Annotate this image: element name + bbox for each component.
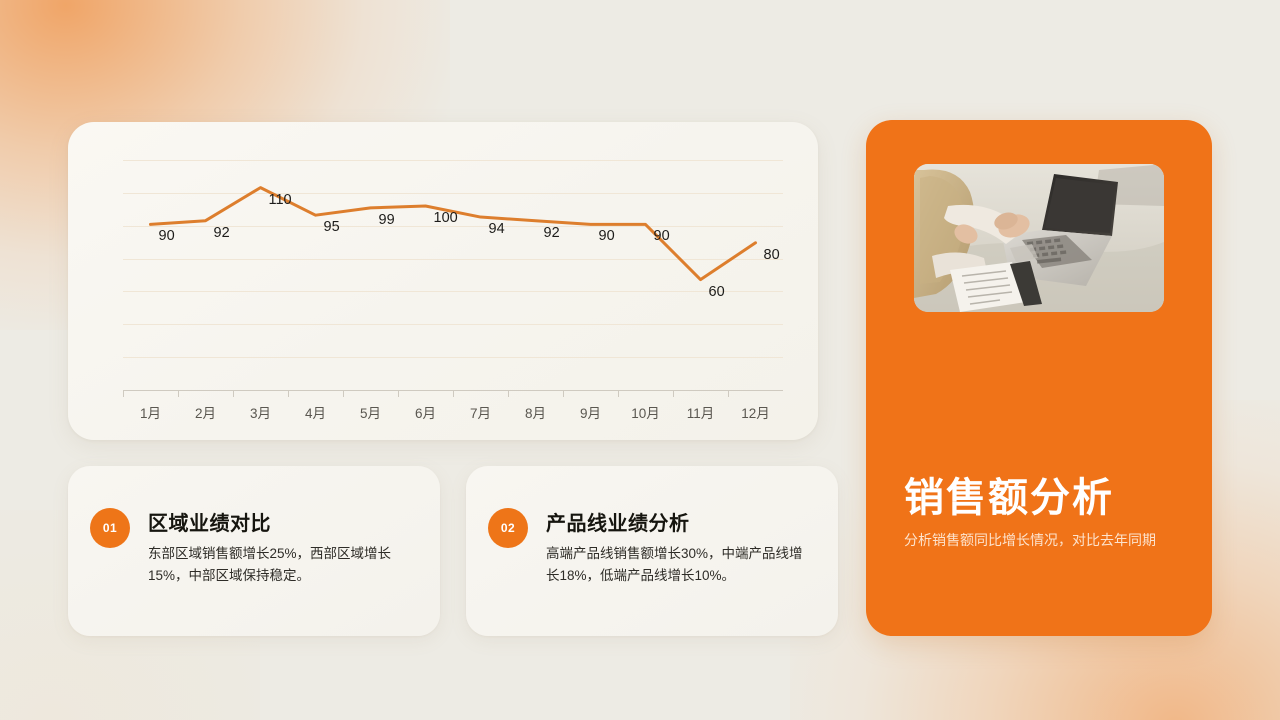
x-axis-label-3: 3月 <box>250 402 271 422</box>
info-card-2[interactable]: 02 产品线业绩分析 高端产品线销售额增长30%，中端产品线增长18%，低端产品… <box>466 466 838 636</box>
chart-x-axis-ticks <box>123 390 783 397</box>
x-axis-label-11: 11月 <box>687 402 715 422</box>
chart-data-label: 92 <box>544 225 560 241</box>
x-axis-tick <box>673 390 674 397</box>
chart-data-label: 95 <box>324 219 340 235</box>
card-description-1: 东部区域销售额增长25%，西部区域增长15%，中部区域保持稳定。 <box>148 543 416 587</box>
x-axis-tick <box>123 390 124 397</box>
chart-line-path <box>123 160 783 390</box>
chart-x-axis-labels: 1月2月3月4月5月6月7月8月9月10月11月12月 <box>123 402 783 428</box>
x-axis-label-12: 12月 <box>741 402 770 422</box>
chart-data-label: 90 <box>654 228 670 244</box>
chart-data-label: 92 <box>214 225 230 241</box>
chart-data-label: 110 <box>269 192 292 208</box>
chart-card: 90921109599100949290906080 1月2月3月4月5月6月7… <box>68 122 818 440</box>
x-axis-tick <box>398 390 399 397</box>
x-axis-label-5: 5月 <box>360 402 381 422</box>
page-subtitle: 分析销售额同比增长情况，对比去年同期 <box>904 530 1166 551</box>
laptop-woman-photo <box>914 164 1164 312</box>
x-axis-tick <box>343 390 344 397</box>
x-axis-label-2: 2月 <box>195 402 216 422</box>
sidebar-orange-panel: 销售额分析 分析销售额同比增长情况，对比去年同期 <box>866 120 1212 636</box>
chart-data-label: 90 <box>599 228 615 244</box>
x-axis-tick <box>618 390 619 397</box>
x-axis-tick <box>563 390 564 397</box>
chart-data-label: 99 <box>379 212 395 228</box>
line-chart-plot-area: 90921109599100949290906080 <box>123 160 783 390</box>
chart-data-label: 60 <box>709 284 725 300</box>
page-title: 销售额分析 <box>904 465 1114 523</box>
x-axis-tick <box>728 390 729 397</box>
x-axis-label-1: 1月 <box>140 402 161 422</box>
x-axis-label-8: 8月 <box>525 402 546 422</box>
x-axis-tick <box>178 390 179 397</box>
card-description-2: 高端产品线销售额增长30%，中端产品线增长18%，低端产品线增长10%。 <box>546 543 814 587</box>
card-title-1: 区域业绩对比 <box>148 507 271 536</box>
chart-data-label: 100 <box>434 210 458 226</box>
x-axis-tick <box>288 390 289 397</box>
x-axis-label-4: 4月 <box>305 402 326 422</box>
chart-data-label: 90 <box>159 228 175 244</box>
x-axis-label-10: 10月 <box>631 402 660 422</box>
chart-data-label: 80 <box>764 247 780 263</box>
info-card-1[interactable]: 01 区域业绩对比 东部区域销售额增长25%，西部区域增长15%，中部区域保持稳… <box>68 466 440 636</box>
card-number-badge-1: 01 <box>90 508 130 548</box>
x-axis-label-9: 9月 <box>580 402 601 422</box>
card-number-badge-2: 02 <box>488 508 528 548</box>
chart-data-label: 94 <box>489 221 505 237</box>
x-axis-label-7: 7月 <box>470 402 491 422</box>
x-axis-tick <box>508 390 509 397</box>
x-axis-tick <box>453 390 454 397</box>
x-axis-tick <box>233 390 234 397</box>
card-title-2: 产品线业绩分析 <box>546 507 690 536</box>
x-axis-label-6: 6月 <box>415 402 436 422</box>
